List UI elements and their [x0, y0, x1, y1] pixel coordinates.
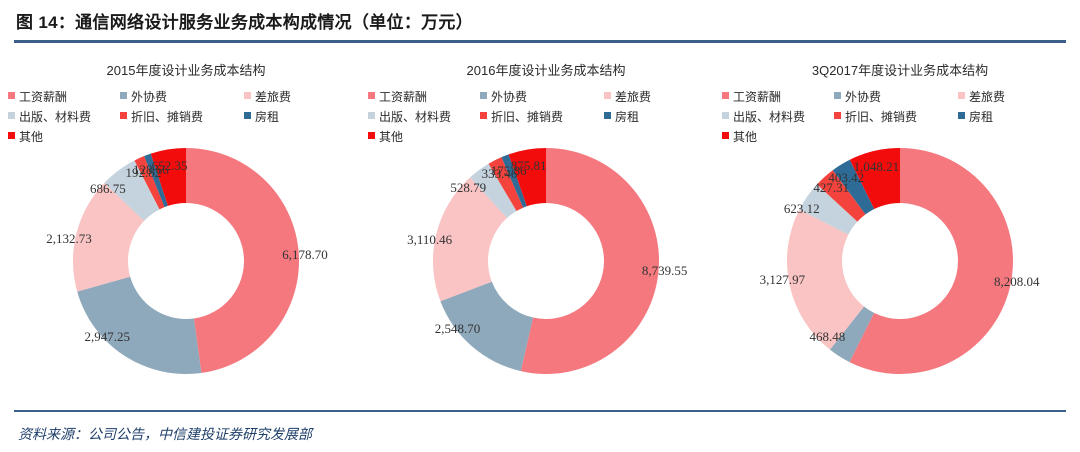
legend-item-6[interactable]: 其他: [8, 128, 120, 145]
header-divider: [14, 40, 1066, 43]
legend-label: 差旅费: [255, 88, 291, 105]
slice-value-label-3: 686.75: [90, 181, 126, 197]
legend-label: 工资薪酬: [733, 88, 781, 105]
legend-label: 出版、材料费: [379, 108, 451, 125]
legend-item-0[interactable]: 工资薪酬: [722, 88, 834, 105]
legend-label: 折旧、摊销费: [845, 108, 917, 125]
slice-value-label-3: 528.79: [450, 180, 486, 196]
slice-value-label-2: 2,132.73: [46, 231, 92, 247]
slice-value-label-1: 468.48: [810, 329, 846, 345]
legend-item-0[interactable]: 工资薪酬: [368, 88, 480, 105]
legend-row: 工资薪酬外协费差旅费: [368, 88, 724, 105]
legend-item-3[interactable]: 出版、材料费: [8, 108, 120, 125]
chart-legend: 工资薪酬外协费差旅费出版、材料费折旧、摊销费房租其他: [8, 88, 364, 148]
legend-item-3[interactable]: 出版、材料费: [722, 108, 834, 125]
legend-swatch-icon: [8, 132, 15, 139]
chart-panel-3q2017: 3Q2017年度设计业务成本结构 工资薪酬外协费差旅费出版、材料费折旧、摊销费房…: [722, 52, 1078, 402]
source-note: 资料来源：公司公告，中信建投证券研究发展部: [18, 424, 312, 444]
slice-value-label-0: 8,739.55: [642, 263, 688, 279]
legend-label: 外协费: [491, 88, 527, 105]
chart-panel-2016: 2016年度设计业务成本结构 工资薪酬外协费差旅费出版、材料费折旧、摊销费房租其…: [368, 52, 724, 402]
chart-title: 2016年度设计业务成本结构: [368, 60, 724, 79]
slice-value-label-0: 6,178.70: [282, 247, 328, 263]
legend-label: 其他: [379, 128, 403, 145]
legend-swatch-icon: [120, 92, 127, 99]
legend-label: 外协费: [845, 88, 881, 105]
donut-chart: 6,178.702,947.252,132.73686.75192.82128.…: [8, 144, 364, 394]
legend-label: 差旅费: [969, 88, 1005, 105]
legend-label: 工资薪酬: [379, 88, 427, 105]
slice-value-label-6: 875.81: [511, 158, 547, 174]
legend-swatch-icon: [604, 112, 611, 119]
legend-row: 出版、材料费折旧、摊销费房租: [368, 108, 724, 125]
figure-header: 图 14：通信网络设计服务业务成本构成情况（单位：万元）: [0, 0, 1080, 44]
legend-row: 工资薪酬外协费差旅费: [722, 88, 1078, 105]
donut-chart: 8,208.04468.483,127.97623.12427.31403.42…: [722, 144, 1078, 394]
legend-item-4[interactable]: 折旧、摊销费: [120, 108, 244, 125]
legend-swatch-icon: [480, 112, 487, 119]
legend-swatch-icon: [722, 112, 729, 119]
donut-slice-1[interactable]: [77, 277, 201, 374]
legend-row: 其他: [722, 128, 1078, 145]
legend-label: 其他: [19, 128, 43, 145]
legend-item-1[interactable]: 外协费: [120, 88, 244, 105]
slice-value-label-6: 1,048.21: [854, 159, 900, 175]
legend-swatch-icon: [958, 92, 965, 99]
legend-swatch-icon: [480, 92, 487, 99]
legend-label: 出版、材料费: [733, 108, 805, 125]
legend-swatch-icon: [604, 92, 611, 99]
legend-swatch-icon: [8, 112, 15, 119]
legend-label: 差旅费: [615, 88, 651, 105]
slice-value-label-0: 8,208.04: [994, 274, 1040, 290]
legend-row: 其他: [8, 128, 364, 145]
legend-swatch-icon: [244, 92, 251, 99]
legend-swatch-icon: [368, 132, 375, 139]
footer-divider: [14, 410, 1066, 412]
legend-row: 出版、材料费折旧、摊销费房租: [8, 108, 364, 125]
slice-value-label-3: 623.12: [784, 201, 820, 217]
legend-item-2[interactable]: 差旅费: [604, 88, 724, 105]
legend-label: 折旧、摊销费: [491, 108, 563, 125]
slice-value-label-1: 2,548.70: [435, 321, 481, 337]
legend-label: 折旧、摊销费: [131, 108, 203, 125]
legend-row: 工资薪酬外协费差旅费: [8, 88, 364, 105]
legend-item-2[interactable]: 差旅费: [244, 88, 364, 105]
legend-swatch-icon: [834, 112, 841, 119]
legend-row: 出版、材料费折旧、摊销费房租: [722, 108, 1078, 125]
legend-label: 外协费: [131, 88, 167, 105]
legend-item-4[interactable]: 折旧、摊销费: [480, 108, 604, 125]
legend-row: 其他: [368, 128, 724, 145]
legend-swatch-icon: [368, 112, 375, 119]
chart-title: 3Q2017年度设计业务成本结构: [722, 60, 1078, 79]
legend-item-6[interactable]: 其他: [722, 128, 834, 145]
chart-legend: 工资薪酬外协费差旅费出版、材料费折旧、摊销费房租其他: [722, 88, 1078, 148]
legend-swatch-icon: [120, 112, 127, 119]
legend-item-1[interactable]: 外协费: [480, 88, 604, 105]
legend-item-5[interactable]: 房租: [604, 108, 724, 125]
donut-chart: 8,739.552,548.703,110.46528.79333.46175.…: [368, 144, 724, 394]
page-title: 图 14：通信网络设计服务业务成本构成情况（单位：万元）: [16, 8, 473, 33]
legend-item-4[interactable]: 折旧、摊销费: [834, 108, 958, 125]
legend-label: 房租: [969, 108, 993, 125]
legend-label: 其他: [733, 128, 757, 145]
legend-item-1[interactable]: 外协费: [834, 88, 958, 105]
legend-label: 房租: [615, 108, 639, 125]
legend-item-5[interactable]: 房租: [958, 108, 1078, 125]
chart-title: 2015年度设计业务成本结构: [8, 60, 364, 79]
slice-value-label-2: 3,110.46: [407, 232, 452, 248]
legend-item-3[interactable]: 出版、材料费: [368, 108, 480, 125]
legend-item-5[interactable]: 房租: [244, 108, 364, 125]
legend-item-6[interactable]: 其他: [368, 128, 480, 145]
legend-label: 出版、材料费: [19, 108, 91, 125]
legend-swatch-icon: [958, 112, 965, 119]
donut-svg: [429, 144, 663, 378]
legend-swatch-icon: [834, 92, 841, 99]
legend-label: 房租: [255, 108, 279, 125]
legend-swatch-icon: [722, 92, 729, 99]
chart-legend: 工资薪酬外协费差旅费出版、材料费折旧、摊销费房租其他: [368, 88, 724, 148]
slice-value-label-2: 3,127.97: [760, 272, 806, 288]
legend-item-0[interactable]: 工资薪酬: [8, 88, 120, 105]
slice-value-label-1: 2,947.25: [84, 329, 130, 345]
slice-value-label-6: 652.35: [152, 158, 188, 174]
legend-item-2[interactable]: 差旅费: [958, 88, 1078, 105]
legend-swatch-icon: [244, 112, 251, 119]
chart-panel-2015: 2015年度设计业务成本结构 工资薪酬外协费差旅费出版、材料费折旧、摊销费房租其…: [8, 52, 364, 402]
legend-swatch-icon: [722, 132, 729, 139]
legend-swatch-icon: [368, 92, 375, 99]
legend-swatch-icon: [8, 92, 15, 99]
legend-label: 工资薪酬: [19, 88, 67, 105]
